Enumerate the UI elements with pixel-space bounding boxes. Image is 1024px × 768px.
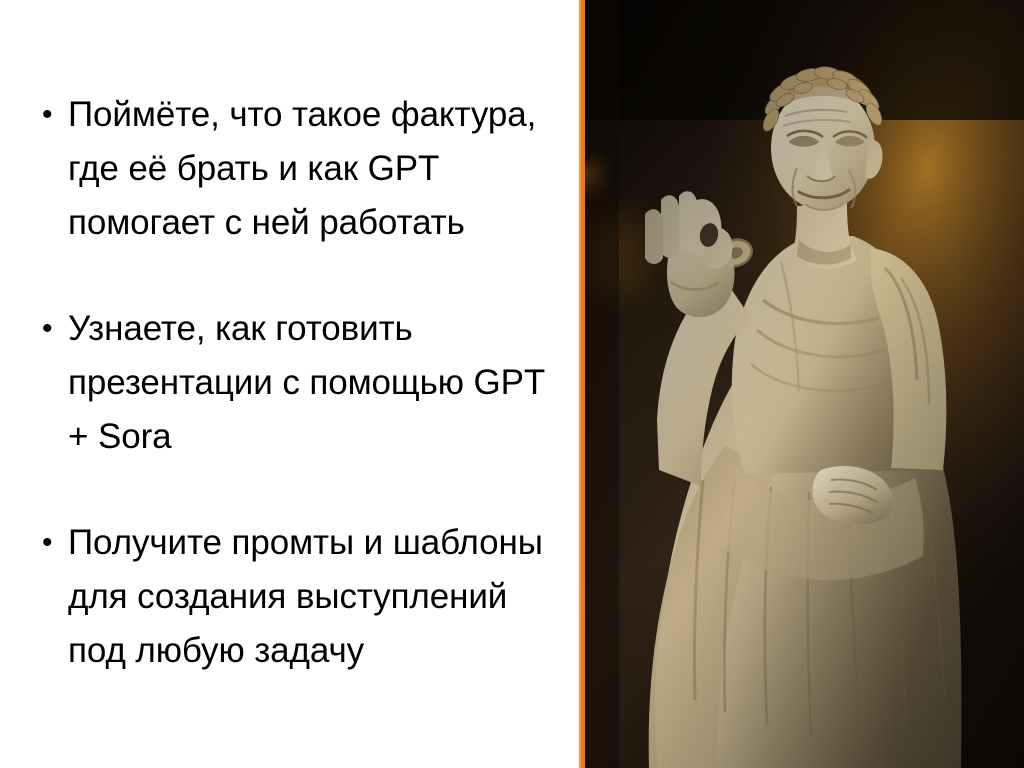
bullet-point-icon: •: [42, 516, 62, 570]
statue-illustration: [585, 0, 1024, 768]
statue-photo: [585, 0, 1024, 768]
bullet-text-1: Поймёте, что такое фактура, где её брать…: [68, 88, 561, 250]
bullet-list: • Поймёте, что такое фактура, где её бра…: [36, 88, 561, 678]
accent-divider-bar: [579, 0, 585, 768]
list-item: • Поймёте, что такое фактура, где её бра…: [36, 88, 561, 250]
bullet-point-icon: •: [42, 88, 62, 142]
slide-root: • Поймёте, что такое фактура, где её бра…: [0, 0, 1024, 768]
bullet-point-icon: •: [42, 302, 62, 356]
photo-vignette: [585, 0, 1024, 768]
list-item: • Узнаете, как готовить презентации с по…: [36, 302, 561, 464]
photo-left-shade: [585, 0, 619, 768]
accent-divider-highlight: [579, 0, 581, 768]
list-item: • Получите промты и шаблоны для создания…: [36, 516, 561, 678]
bullet-text-2: Узнаете, как готовить презентации с помо…: [68, 302, 561, 464]
bullet-text-3: Получите промты и шаблоны для создания в…: [68, 516, 561, 678]
content-panel: • Поймёте, что такое фактура, где её бра…: [0, 0, 579, 768]
